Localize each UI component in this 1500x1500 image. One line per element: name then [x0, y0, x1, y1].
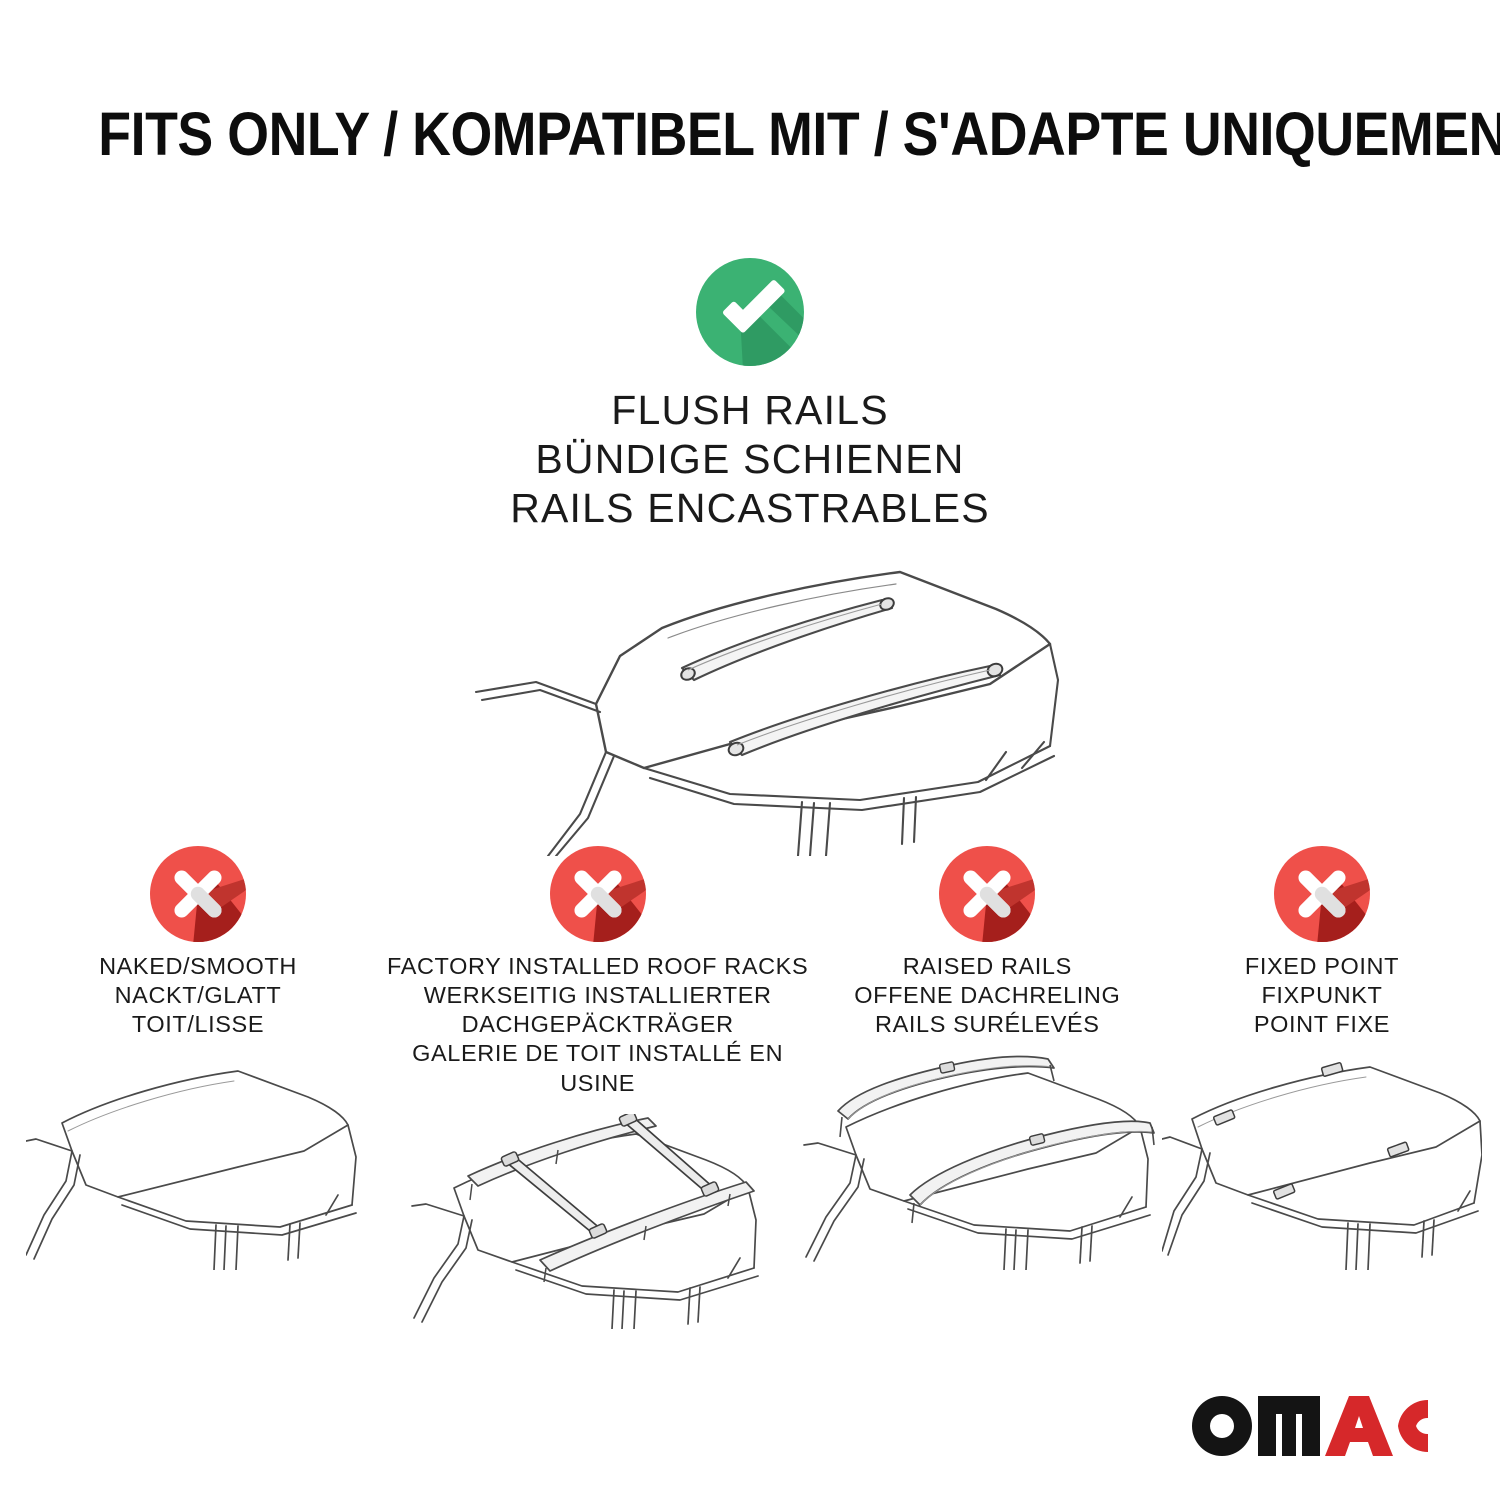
x-circle-icon — [1274, 846, 1370, 942]
car-roof-naked-smooth-illustration — [26, 1055, 371, 1270]
x-circle-icon — [939, 846, 1035, 942]
car-roof-flush-rails-illustration — [430, 556, 1070, 856]
omac-logo-accent-part — [1325, 1396, 1428, 1456]
not-compatible-item-factory-racks: FACTORY INSTALLED ROOF RACKS WERKSEITIG … — [383, 846, 813, 1329]
car-roof-fixed-point-illustration — [1162, 1055, 1482, 1270]
not-compatible-item-naked-smooth: NAKED/SMOOTH NACKT/GLATT TOIT/LISSE — [18, 846, 378, 1270]
not-compatible-caption: FIXED POINT FIXPUNKT POINT FIXE — [1245, 952, 1399, 1039]
check-circle-icon — [696, 258, 804, 366]
omac-logo — [1192, 1394, 1428, 1458]
car-roof-factory-racks-illustration — [410, 1114, 785, 1329]
x-circle-icon — [150, 846, 246, 942]
compatible-caption: FLUSH RAILS BÜNDIGE SCHIENEN RAILS ENCAS… — [0, 386, 1500, 534]
not-compatible-section: NAKED/SMOOTH NACKT/GLATT TOIT/LISSE — [0, 846, 1500, 1329]
car-roof-raised-rails-illustration — [802, 1055, 1172, 1270]
page-title: FITS ONLY / KOMPATIBEL MIT / S'ADAPTE UN… — [0, 104, 1500, 165]
not-compatible-item-fixed-point: FIXED POINT FIXPUNKT POINT FIXE — [1162, 846, 1482, 1270]
omac-logo-dark-part — [1192, 1396, 1320, 1456]
not-compatible-caption: NAKED/SMOOTH NACKT/GLATT TOIT/LISSE — [99, 952, 297, 1039]
not-compatible-caption: RAISED RAILS OFFENE DACHRELING RAILS SUR… — [854, 952, 1120, 1039]
compatible-section: FLUSH RAILS BÜNDIGE SCHIENEN RAILS ENCAS… — [0, 258, 1500, 856]
page-title-text: FITS ONLY / KOMPATIBEL MIT / S'ADAPTE UN… — [98, 104, 1500, 165]
not-compatible-item-raised-rails: RAISED RAILS OFFENE DACHRELING RAILS SUR… — [817, 846, 1157, 1270]
x-circle-icon — [550, 846, 646, 942]
not-compatible-caption: FACTORY INSTALLED ROOF RACKS WERKSEITIG … — [383, 952, 813, 1098]
